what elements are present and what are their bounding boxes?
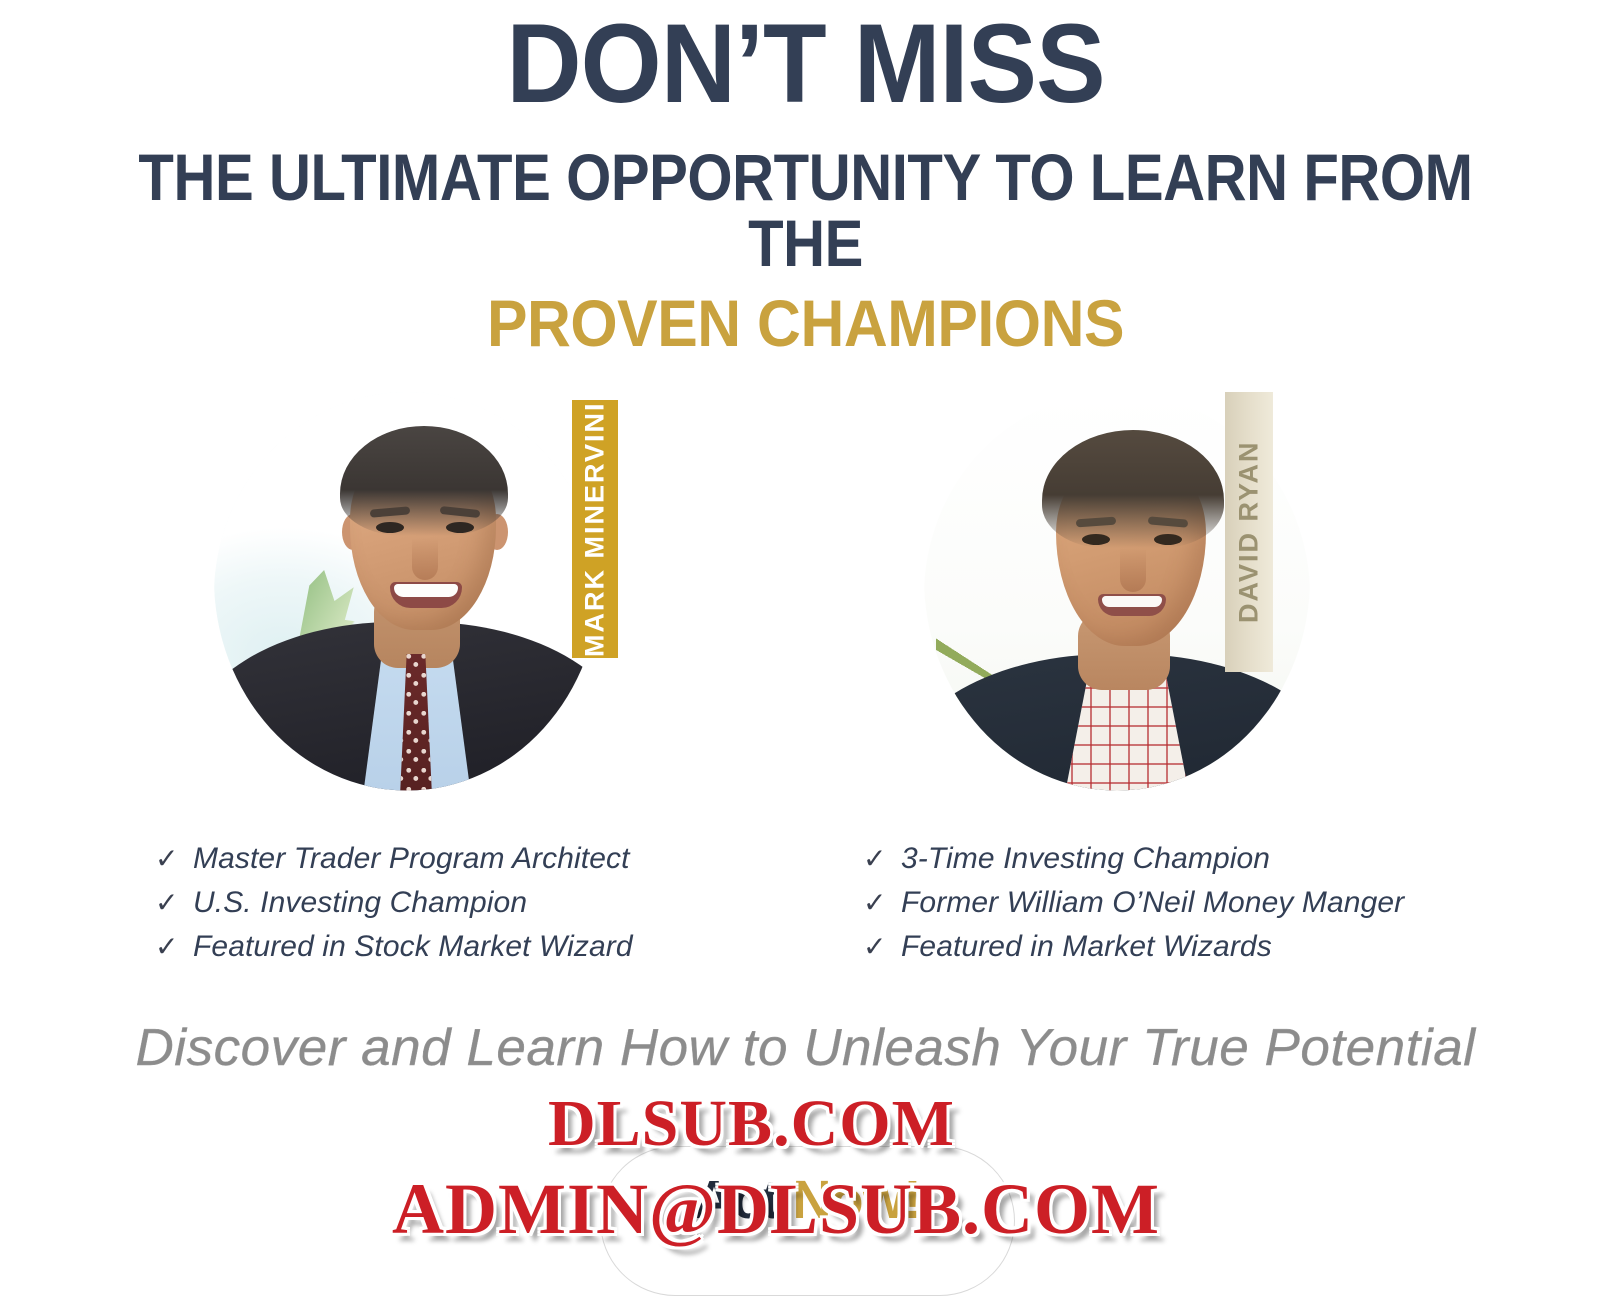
watermark-email: ADMIN@DLSUB.COM (392, 1168, 1160, 1251)
eye-left (376, 522, 404, 533)
credentials-list-david-ryan: ✓ 3-Time Investing Champion ✓ Former Wil… (863, 842, 1563, 974)
list-item: ✓ Former William O’Neil Money Manger (863, 886, 1563, 930)
speaker-photo-mark-minervini (214, 392, 600, 816)
list-item: ✓ Master Trader Program Architect (155, 842, 835, 886)
check-icon: ✓ (155, 845, 193, 873)
mouth (390, 582, 462, 608)
list-item: ✓ U.S. Investing Champion (155, 886, 835, 930)
nose (1120, 548, 1146, 592)
headline-line-2: THE ULTIMATE OPPORTUNITY TO LEARN FROM T… (97, 144, 1515, 276)
check-icon: ✓ (863, 845, 901, 873)
speaker-name-ribbon-david-ryan: DAVID RYAN (1225, 392, 1273, 672)
teeth (1102, 596, 1162, 607)
list-item-label: Former William O’Neil Money Manger (901, 886, 1404, 920)
headline-line-1: DON’T MISS (56, 0, 1554, 120)
check-icon: ✓ (155, 933, 193, 961)
speaker-card-mark-minervini: MARK MINERVINI (170, 378, 640, 828)
portrait-illustration (214, 392, 600, 816)
tagline: Discover and Learn How to Unleash Your T… (0, 1018, 1611, 1078)
list-item-label: Featured in Stock Market Wizard (193, 930, 633, 964)
check-icon: ✓ (863, 933, 901, 961)
speaker-name-ribbon-mark-minervini: MARK MINERVINI (572, 400, 618, 658)
headline-line-3: PROVEN CHAMPIONS (64, 290, 1546, 356)
list-item: ✓ Featured in Stock Market Wizard (155, 930, 835, 974)
list-item: ✓ Featured in Market Wizards (863, 930, 1563, 974)
mouth (1098, 594, 1166, 616)
eye-right (446, 522, 474, 533)
check-icon: ✓ (863, 889, 901, 917)
list-item-label: 3-Time Investing Champion (901, 842, 1270, 876)
speakers-row: MARK MINERVINI D (0, 378, 1611, 828)
list-item-label: U.S. Investing Champion (193, 886, 527, 920)
nose (412, 538, 438, 580)
list-item: ✓ 3-Time Investing Champion (863, 842, 1563, 886)
teeth (394, 584, 458, 597)
speaker-card-david-ryan: DAVID RYAN (880, 378, 1350, 828)
credentials-list-mark-minervini: ✓ Master Trader Program Architect ✓ U.S.… (155, 842, 835, 974)
check-icon: ✓ (155, 889, 193, 917)
watermark-site: DLSUB.COM (548, 1086, 955, 1162)
eye-right (1154, 534, 1182, 545)
list-item-label: Featured in Market Wizards (901, 930, 1272, 964)
list-item-label: Master Trader Program Architect (193, 842, 630, 876)
eye-left (1082, 534, 1110, 545)
headline-block: DON’T MISS THE ULTIMATE OPPORTUNITY TO L… (0, 0, 1611, 356)
